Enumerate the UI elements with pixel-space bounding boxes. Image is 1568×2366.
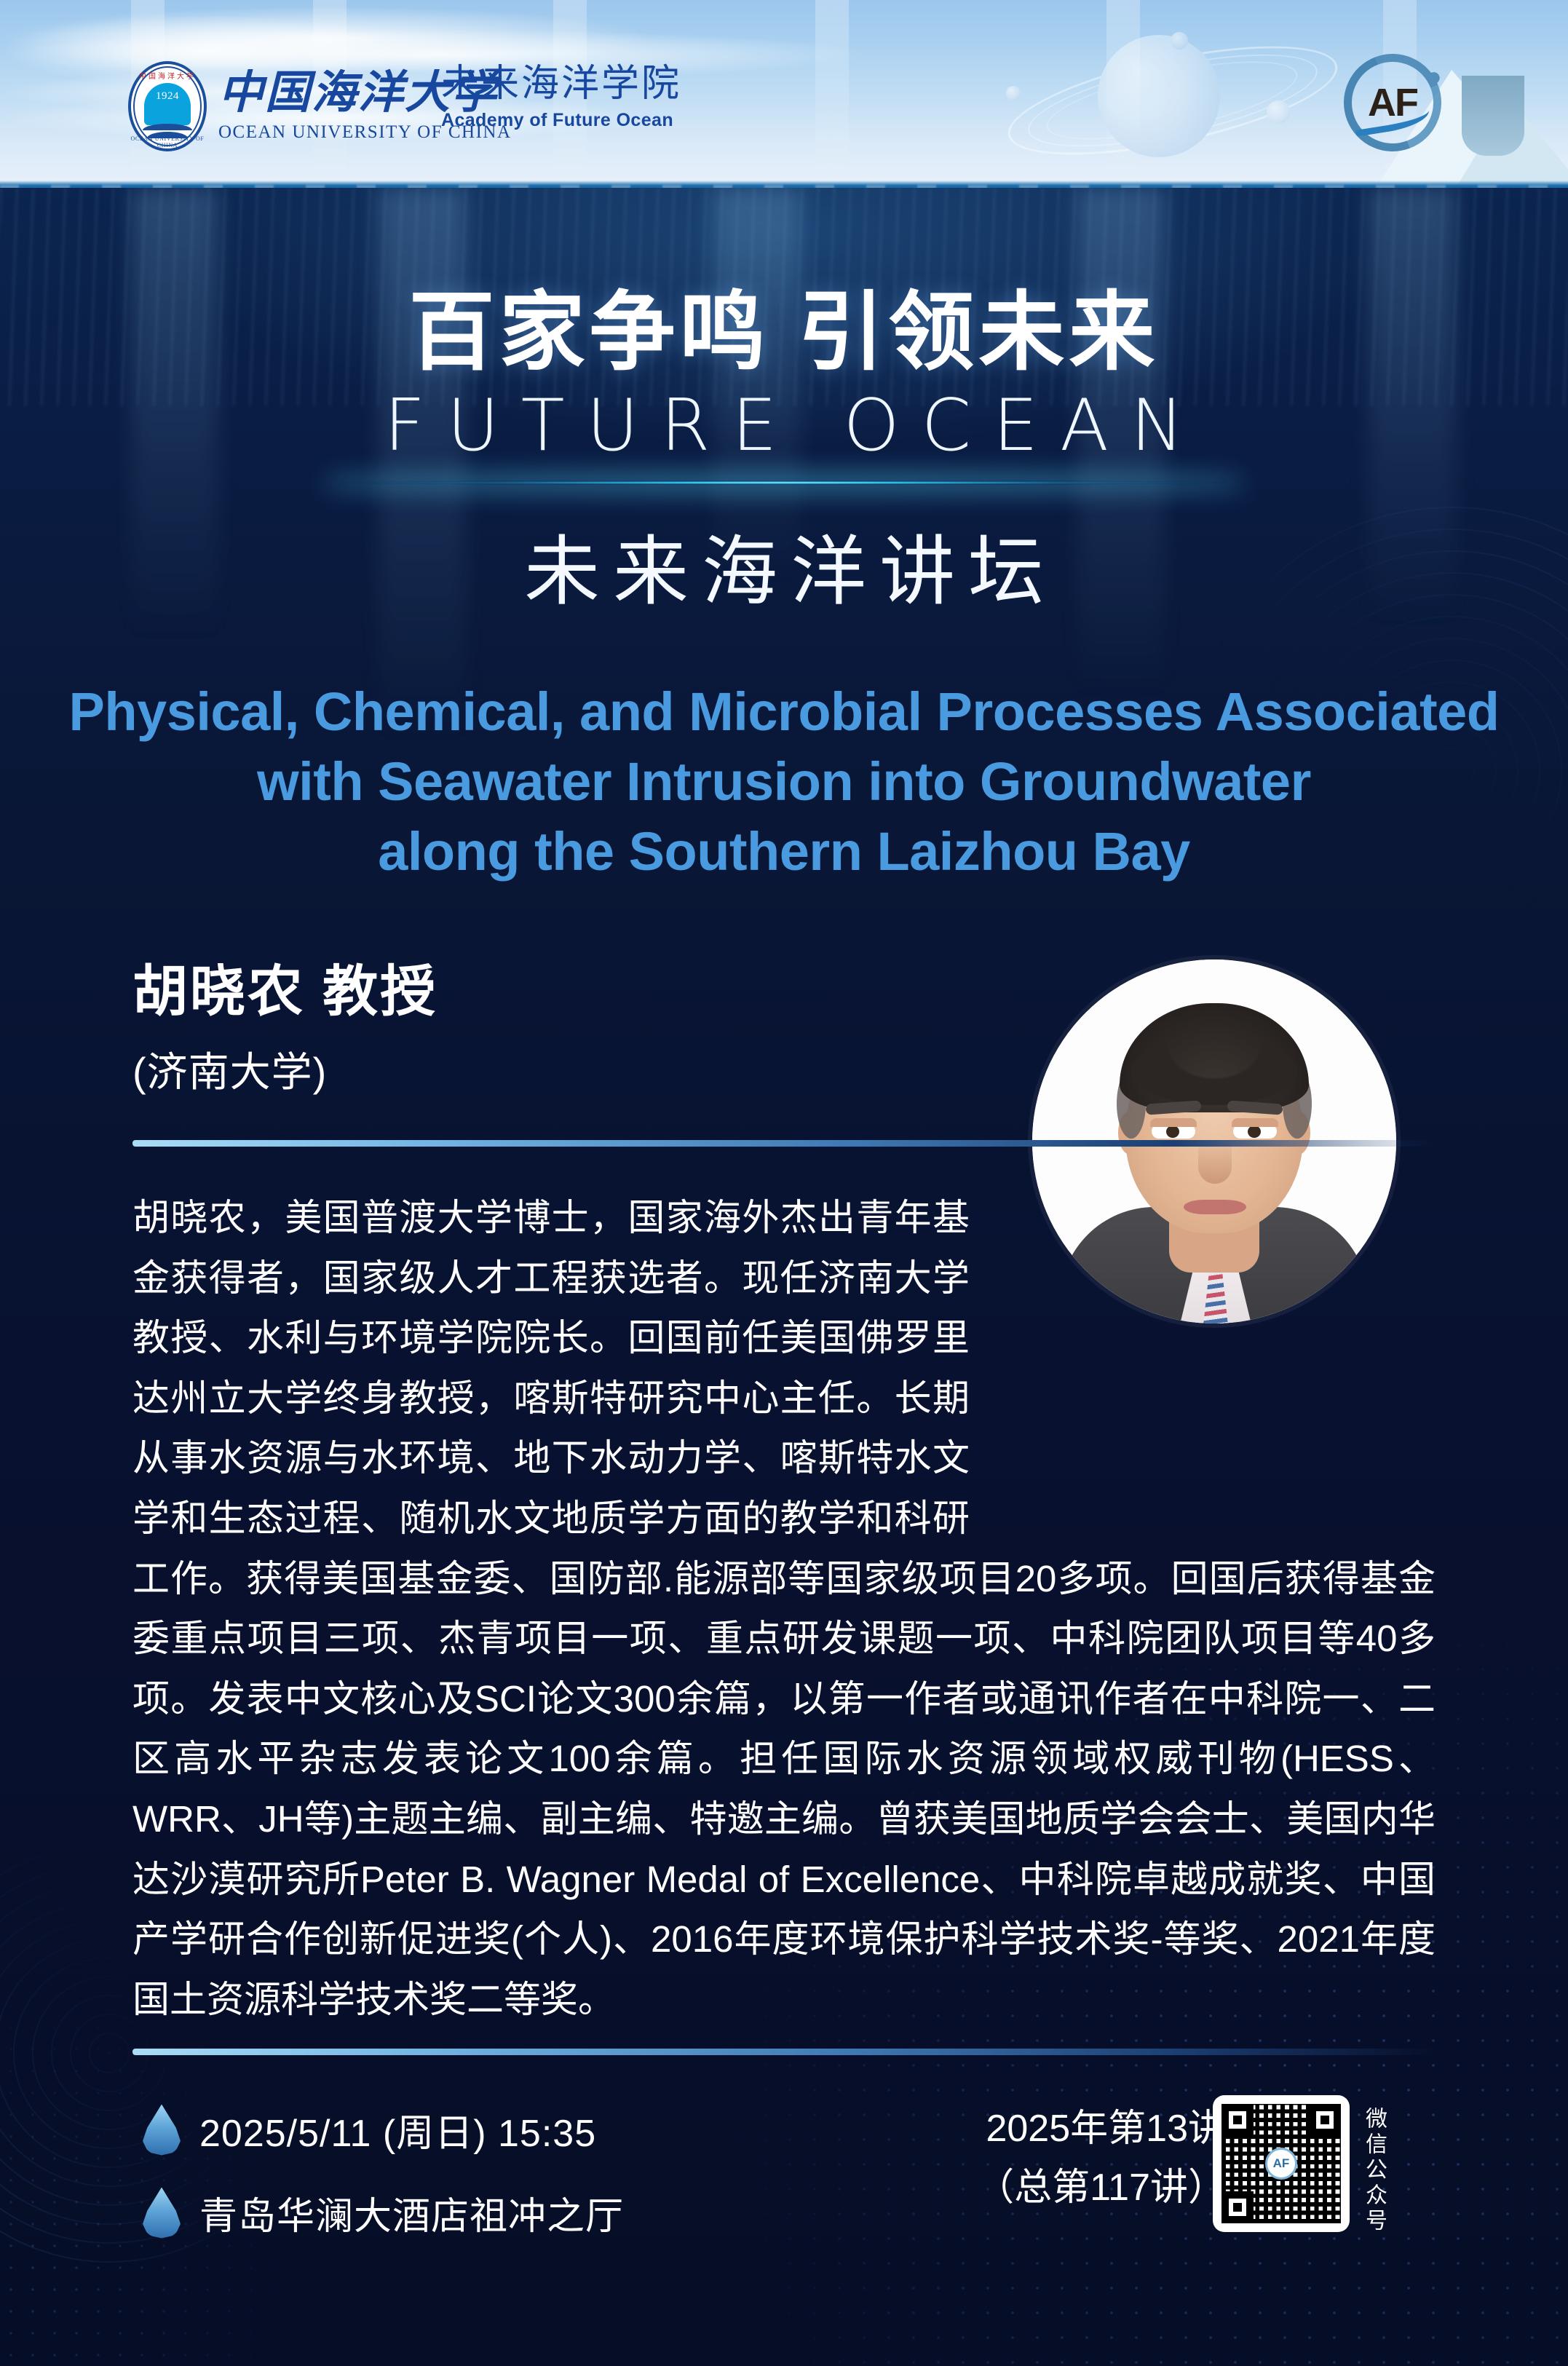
qr-matrix: AF [1221, 2104, 1341, 2223]
seal-arc-text: OCEAN UNIVERSITY OF CHINA [128, 135, 207, 149]
talk-title-line: Physical, Chemical, and Microbial Proces… [29, 677, 1539, 747]
talk-title-line: with Seawater Intrusion into Groundwater [29, 747, 1539, 817]
talk-title-line: along the Southern Laizhou Bay [29, 817, 1539, 887]
header-logo-bar: 中国海洋大学 1924 OCEAN UNIVERSITY OF CHINA 中国… [0, 0, 1568, 188]
seal-dome [144, 83, 191, 125]
slogan-cn: 百家争鸣 引领未来 [0, 262, 1568, 387]
glow-divider [333, 480, 1235, 485]
divider-top [132, 1140, 1436, 1147]
talk-title: Physical, Chemical, and Microbial Proces… [29, 677, 1539, 887]
footer: 2025/5/11 (周日) 15:35 青岛华澜大酒店祖冲之厅 2025年第1… [0, 2082, 1568, 2271]
venue-row: 青岛华澜大酒店祖冲之厅 [143, 2185, 624, 2240]
datetime-row: 2025/5/11 (周日) 15:35 [143, 2102, 596, 2157]
forum-name-cn: 未来海洋讲坛 [0, 510, 1568, 620]
logo-divider [431, 67, 432, 143]
poster-root: 中国海洋大学 1924 OCEAN UNIVERSITY OF CHINA 中国… [0, 0, 1568, 2366]
speaker-affiliation: (济南大学) [132, 1040, 327, 1099]
water-drop-icon [143, 2188, 181, 2239]
lecture-total-number: （总第117讲） [976, 2159, 1226, 2217]
qr-finder-icon [1221, 2104, 1254, 2136]
academy-name-en: Academy of Future Ocean [441, 110, 681, 131]
speaker-bio: 胡晓农，美国普渡大学博士，国家海外杰出青年基金获得者，国家级人才工程获选者。现任… [132, 1188, 1436, 2030]
divider-bottom [132, 2049, 1436, 2055]
qr-caption: 微信公众号 [1363, 2107, 1385, 2234]
portrait-text-wrap-spacer [970, 1188, 1436, 1501]
ouc-seal-icon: 中国海洋大学 1924 OCEAN UNIVERSITY OF CHINA [128, 61, 207, 151]
seal-year: 1924 [128, 90, 207, 103]
water-drop-icon [143, 2105, 181, 2156]
qr-center-logo: AF [1265, 2148, 1297, 2180]
academy-name-cn: 未来海洋学院 [441, 64, 681, 104]
qr-finder-icon [1309, 2104, 1341, 2136]
lecture-number: 2025年第13讲 （总第117讲） [976, 2100, 1226, 2217]
academy-wordmark: 未来海洋学院 Academy of Future Ocean [441, 64, 681, 131]
af-badge-icon: AF [1344, 54, 1441, 151]
lecture-year-number: 2025年第13讲 [976, 2100, 1226, 2159]
event-venue: 青岛华澜大酒店祖冲之厅 [199, 2185, 624, 2240]
speaker-name: 胡晓农 教授 [132, 946, 437, 1026]
seal-top-chars: 中国海洋大学 [128, 70, 207, 81]
brand-en: FUTURE OCEAN [0, 384, 1568, 467]
qr-finder-icon [1221, 2191, 1254, 2223]
wechat-qr-code[interactable]: AF [1213, 2095, 1350, 2232]
event-datetime: 2025/5/11 (周日) 15:35 [199, 2102, 596, 2157]
